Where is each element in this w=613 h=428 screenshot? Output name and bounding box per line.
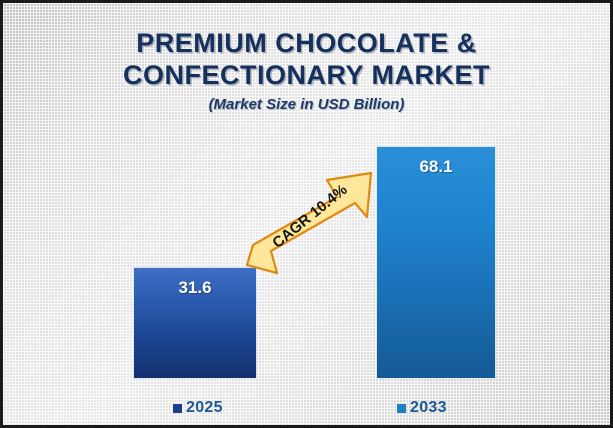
bar-value-2033: 68.1 <box>377 157 495 177</box>
legend-item-2025[interactable]: 2025 <box>173 399 223 417</box>
chart-subtitle: (Market Size in USD Billion) <box>3 96 610 113</box>
legend-label-2025: 2025 <box>186 399 223 417</box>
chart-legend: 2025 2033 <box>3 399 610 421</box>
chart-title-line-1: PREMIUM CHOCOLATE & <box>3 27 610 59</box>
legend-item-2033[interactable]: 2033 <box>397 399 447 417</box>
bar-2033: 68.1 <box>376 146 496 379</box>
chart-title-line-2: CONFECTIONARY MARKET <box>3 59 610 91</box>
legend-swatch-icon-2033 <box>397 404 406 413</box>
cagr-label: CAGR 10.4% <box>262 175 358 257</box>
bar-value-2025: 31.6 <box>134 278 256 298</box>
bar-2025: 31.6 <box>133 267 257 379</box>
legend-swatch-icon-2025 <box>173 404 182 413</box>
legend-label-2033: 2033 <box>410 399 447 417</box>
chart-title-block: PREMIUM CHOCOLATE & CONFECTIONARY MARKET… <box>3 27 610 113</box>
chart-canvas: PREMIUM CHOCOLATE & CONFECTIONARY MARKET… <box>0 0 613 428</box>
